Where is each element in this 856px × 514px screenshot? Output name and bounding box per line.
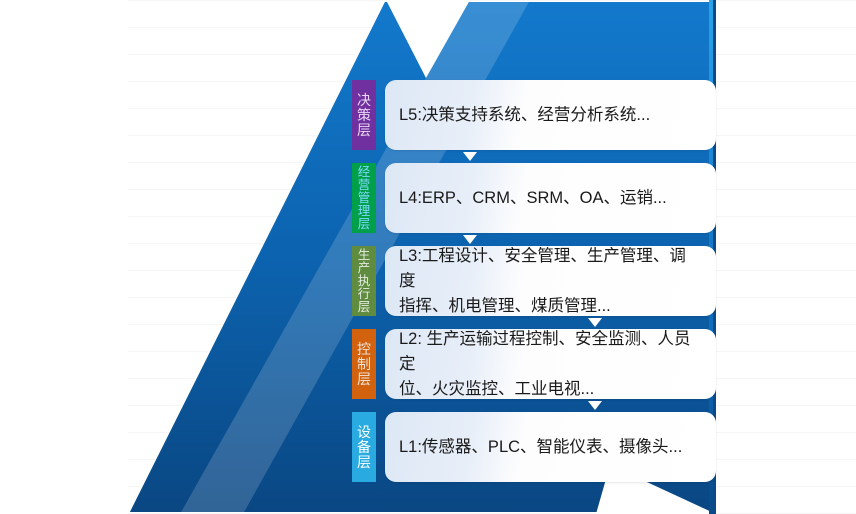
level-tab-char: 设	[357, 425, 371, 440]
pyramid-diagram: 决 策 层 L5:决策支持系统、经营分析系统... 经 营 管 理 层	[0, 0, 856, 514]
level-tab-char: 层	[358, 218, 371, 231]
level-tab-L3[interactable]: 生 产 执 行 层	[352, 246, 376, 316]
level-row-L1[interactable]: 设 备 层 L1:传感器、PLC、智能仪表、摄像头...	[352, 412, 716, 482]
level-tab-char: 决	[357, 93, 371, 108]
level-row-L5[interactable]: 决 策 层 L5:决策支持系统、经营分析系统...	[352, 80, 716, 150]
level-tab-char: 产	[358, 262, 371, 275]
level-card-line: L3:工程设计、安全管理、生产管理、调度	[399, 244, 702, 294]
level-tab-char: 营	[358, 179, 371, 192]
level-tab-L1[interactable]: 设 备 层	[352, 412, 376, 482]
level-tab-char: 制	[357, 357, 371, 372]
level-tab-char: 层	[357, 123, 371, 138]
level-tab-char: 行	[358, 288, 371, 301]
level-card-line: 指挥、机电管理、煤质管理...	[399, 294, 702, 319]
level-divider-arrow	[463, 152, 477, 161]
level-row-L4[interactable]: 经 营 管 理 层 L4:ERP、CRM、SRM、OA、运销...	[352, 163, 716, 233]
level-tab-L5[interactable]: 决 策 层	[352, 80, 376, 150]
level-card-L5[interactable]: L5:决策支持系统、经营分析系统...	[385, 80, 716, 150]
level-divider-arrow	[588, 401, 602, 410]
level-tab-L2[interactable]: 控 制 层	[352, 329, 376, 399]
level-card-line: L1:传感器、PLC、智能仪表、摄像头...	[399, 435, 682, 460]
level-row-L2[interactable]: 控 制 层 L2: 生产运输过程控制、安全监测、人员定 位、火灾监控、工业电视.…	[352, 329, 716, 399]
level-card-line: 位、火灾监控、工业电视...	[399, 377, 702, 402]
level-tab-char: 理	[358, 205, 371, 218]
level-tab-char: 控	[357, 342, 371, 357]
level-tab-char: 管	[358, 192, 371, 205]
level-tab-char: 策	[357, 108, 371, 123]
level-tab-char: 层	[357, 372, 371, 387]
level-card-L3[interactable]: L3:工程设计、安全管理、生产管理、调度 指挥、机电管理、煤质管理...	[385, 246, 716, 316]
level-card-L1[interactable]: L1:传感器、PLC、智能仪表、摄像头...	[385, 412, 716, 482]
level-tab-char: 执	[358, 275, 371, 288]
level-card-line: L4:ERP、CRM、SRM、OA、运销...	[399, 186, 667, 211]
level-tab-char: 经	[358, 166, 371, 179]
level-rows: 决 策 层 L5:决策支持系统、经营分析系统... 经 营 管 理 层	[0, 0, 856, 514]
level-tab-char: 生	[358, 249, 371, 262]
level-tab-char: 层	[358, 301, 371, 314]
level-tab-char: 备	[357, 440, 371, 455]
level-card-line: L2: 生产运输过程控制、安全监测、人员定	[399, 327, 702, 377]
level-tab-L4[interactable]: 经 营 管 理 层	[352, 163, 376, 233]
level-card-L4[interactable]: L4:ERP、CRM、SRM、OA、运销...	[385, 163, 716, 233]
level-card-line: L5:决策支持系统、经营分析系统...	[399, 103, 650, 128]
level-row-L3[interactable]: 生 产 执 行 层 L3:工程设计、安全管理、生产管理、调度 指挥、机电管理、煤…	[352, 246, 716, 316]
level-card-L2[interactable]: L2: 生产运输过程控制、安全监测、人员定 位、火灾监控、工业电视...	[385, 329, 716, 399]
level-tab-char: 层	[357, 455, 371, 470]
